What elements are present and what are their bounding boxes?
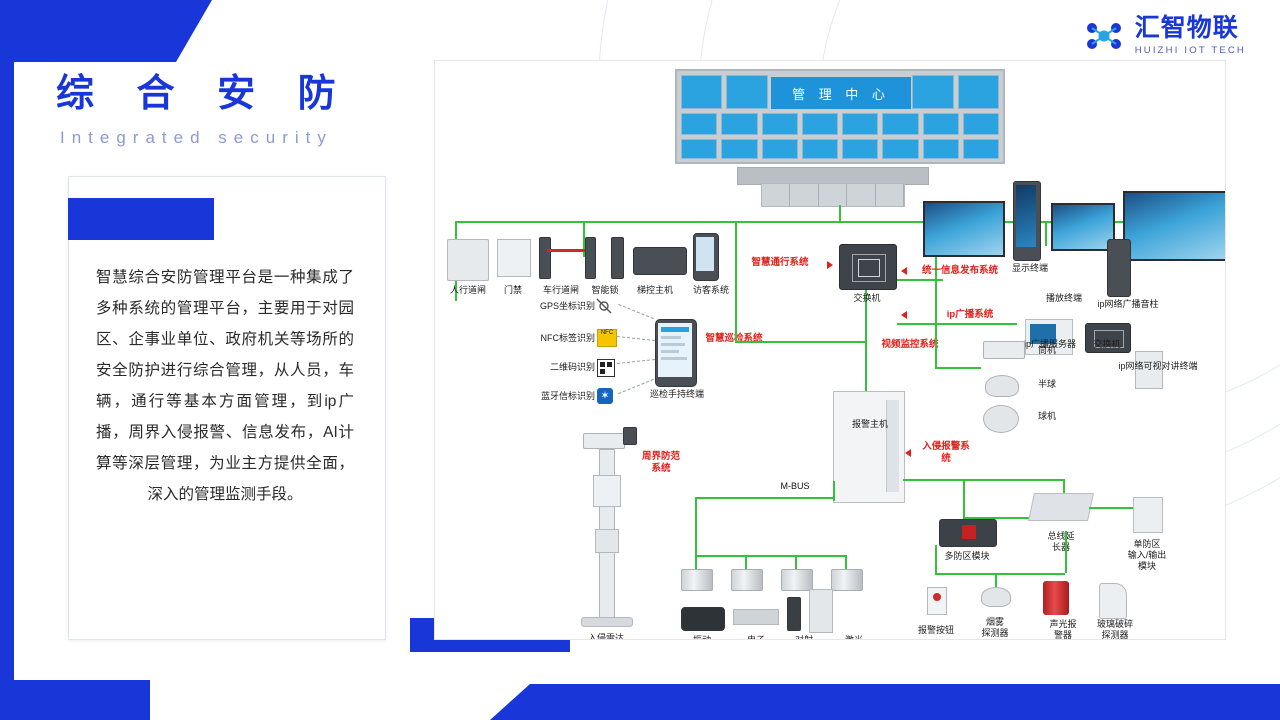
label-vibration-fiber: 振动 光纤 [673,635,731,640]
label-handheld-terminal: 巡检手持终端 [637,389,717,400]
brand-logo: 汇智物联 HUIZHI IOT TECH [1083,16,1246,56]
label-elevator-host: 梯控主机 [625,285,685,296]
vehicle-gate-icon [539,237,551,279]
system-label-perimeter: 周界防范 系统 [621,451,701,475]
label-mbus: M-BUS [765,481,825,492]
label-alarm-button: 报警按钮 [905,625,967,636]
architecture-diagram: 管 理 中 心 人行道闸 门禁 车行道闸 智能锁 梯控主机 访客系统 GPS坐标… [434,60,1226,640]
ip-speaker-column-icon [1107,239,1131,297]
smoke-detector-icon [981,587,1011,607]
label-switch-2: 交换机 [1083,339,1131,350]
alarm-host-icon [833,391,905,503]
large-led-display-icon [1123,191,1226,261]
label-ip-speaker-column: ip网络广播音柱 [1085,299,1171,310]
logo-en: HUIZHI IOT TECH [1135,46,1246,56]
pole-base [581,617,633,627]
access-control-icon [497,239,531,277]
dome-camera-icon [985,375,1019,397]
label-laser-scan: 激光 扫描 [825,635,883,640]
glass-break-detector-icon [1099,583,1127,619]
page-title: 综 合 安 防 [56,62,352,117]
label-ptz-camera: 球机 [1027,411,1067,422]
label-bus-extender: 总线延 长器 [1031,531,1091,553]
description-text: 智慧综合安防管理平台是一种集成了多种系统的管理平台，主要用于对园区、企事业单位、… [96,262,354,510]
system-label-video-surveillance: 视频监控系统 [865,339,955,351]
elevator-control-host-icon [633,247,687,275]
system-label-access: 智慧通行系统 [735,257,825,269]
beam-product-icon [787,597,801,631]
label-intrusion-radar: 入侵雷达 [575,633,637,640]
perimeter-device-1-icon [681,569,713,591]
system-label-ip-broadcast: ip广播系统 [925,309,1015,321]
perimeter-device-3-icon [781,569,813,591]
label-nfc: NFC标签识别 [503,333,595,344]
pedestrian-gate-icon [447,239,489,281]
satellite-icon [595,297,613,315]
decor-top-left-block [0,0,160,62]
label-pedestrian-gate: 人行道闸 [437,285,499,296]
label-single-io-module: 单防区 输入/输出 模块 [1107,539,1187,572]
multi-zone-module-icon [939,519,997,547]
label-bluetooth: 蓝牙信标识别 [503,391,595,402]
radar-unit-2-icon [595,529,619,553]
decor-left-bar [0,0,14,720]
label-dome-camera: 半球 [1027,379,1067,390]
decor-bottom-bar [490,684,1280,720]
logo-mark-icon [1083,19,1125,53]
label-access-control: 门禁 [493,285,533,296]
ptz-camera-icon [983,405,1019,433]
handheld-screen [658,323,692,377]
perimeter-camera-2-icon [623,427,637,445]
nfc-icon: NFC [597,329,617,347]
sound-light-alarm-icon [1043,581,1069,615]
vibration-fiber-icon [681,607,725,631]
label-smoke-detector: 烟雾 探测器 [965,617,1025,639]
perimeter-camera-icon [583,433,625,449]
electronic-fence-icon [733,609,779,625]
alarm-button-icon [927,587,947,615]
description-card-tag [68,198,214,240]
label-visitor-system: 访客系统 [681,285,741,296]
display-screen-wall-icon [923,201,1005,257]
decor-top-left-slant [152,0,212,62]
perimeter-device-2-icon [731,569,763,591]
label-switch-core: 交换机 [829,293,905,304]
label-qrcode: 二维码识别 [503,362,595,373]
label-alarm-host: 报警主机 [843,419,897,430]
smart-lock-icon [585,237,596,279]
radar-unit-icon [593,475,621,507]
smart-lock-body [611,237,624,279]
label-vehicle-gate: 车行道闸 [533,285,589,296]
kiosk-screen [1016,185,1036,247]
laser-scanner-icon [809,589,833,633]
system-label-inspection: 智慧巡检系统 [699,333,769,345]
label-smart-lock: 智能锁 [583,285,627,296]
core-switch-icon [839,244,897,290]
bus-extender-icon [1028,493,1094,521]
perimeter-device-4-icon [831,569,863,591]
decor-bottom-left-block [0,680,150,720]
bluetooth-icon: ✶ [597,388,613,404]
management-center-building: 管 理 中 心 [675,69,1005,164]
management-center-sign: 管 理 中 心 [771,77,911,109]
single-zone-io-module-icon [1133,497,1163,533]
label-bullet-camera: 筒机 [1027,345,1067,356]
logo-cn: 汇智物联 [1135,16,1246,41]
label-multi-zone-module: 多防区模块 [927,551,1007,562]
label-ip-video-intercom: ip网络可视对讲终端 [1093,361,1223,372]
system-label-info-publish: 统一信息发布系统 [905,265,1015,277]
label-glass-break-detector: 玻璃破碎 探测器 [1081,619,1149,640]
system-label-intrusion-alarm: 入侵报警系 统 [911,441,981,465]
bullet-camera-icon [983,341,1025,359]
building-base-windows [761,183,905,207]
visitor-phone-screen [696,237,714,271]
tv-display-icon [1051,203,1115,251]
page-subtitle: Integrated security [60,128,333,148]
label-gps: GPS坐标识别 [503,301,595,312]
qr-code-icon [597,359,615,377]
